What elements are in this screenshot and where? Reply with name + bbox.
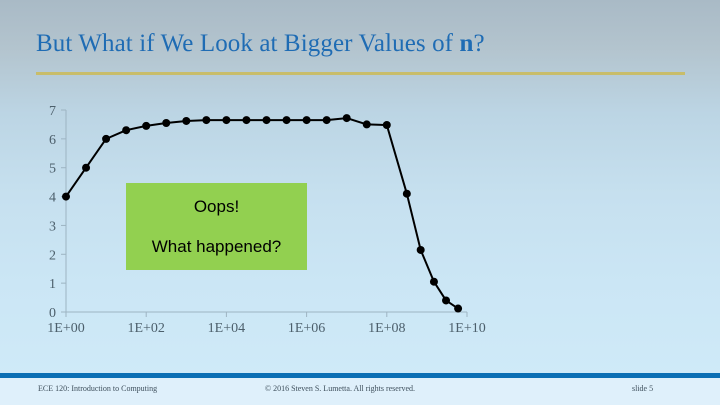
x-axis-tick-label: 1E+02	[127, 321, 164, 336]
data-point	[102, 135, 110, 143]
slide: But What if We Look at Bigger Values of …	[0, 0, 720, 405]
data-point	[182, 117, 190, 125]
y-axis-tick-label: 3	[49, 219, 56, 234]
y-axis-tick-label: 6	[49, 133, 56, 148]
y-axis-tick-label: 1	[49, 277, 56, 292]
data-point	[442, 296, 450, 304]
data-point	[242, 116, 250, 124]
data-point	[142, 122, 150, 130]
footer: ECE 120: Introduction to Computing © 201…	[0, 378, 720, 405]
y-axis-tick-label: 5	[49, 162, 56, 177]
data-point	[323, 116, 331, 124]
x-axis-tick-label: 1E+00	[47, 321, 84, 336]
data-point	[454, 305, 462, 313]
x-axis-tick-label: 1E+08	[368, 321, 405, 336]
line-chart: 01234567 1E+001E+021E+041E+061E+081E+10	[0, 0, 720, 405]
x-axis-tick-label: 1E+06	[288, 321, 325, 336]
callout-line-1: Oops!	[194, 197, 239, 217]
y-axis-tick-label: 2	[49, 248, 56, 263]
data-point	[122, 126, 130, 134]
data-point	[263, 116, 271, 124]
data-point	[162, 119, 170, 127]
data-point	[417, 246, 425, 254]
data-point	[363, 120, 371, 128]
data-point	[82, 164, 90, 172]
y-axis-ticks: 01234567	[49, 104, 66, 321]
data-point	[283, 116, 291, 124]
x-axis-ticks: 1E+001E+021E+041E+061E+081E+10	[47, 312, 485, 336]
data-point	[430, 278, 438, 286]
callout-box: Oops! What happened?	[126, 183, 307, 270]
data-point	[403, 190, 411, 198]
x-axis-tick-label: 1E+04	[208, 321, 245, 336]
callout-line-2: What happened?	[152, 237, 282, 257]
data-point	[383, 121, 391, 129]
y-axis-tick-label: 7	[49, 104, 56, 119]
x-axis-tick-label: 1E+10	[448, 321, 485, 336]
footer-copyright: © 2016 Steven S. Lumetta. All rights res…	[265, 384, 415, 393]
y-axis-tick-label: 4	[49, 191, 56, 206]
data-point	[343, 114, 351, 122]
data-point	[303, 116, 311, 124]
y-axis-tick-label: 0	[49, 306, 56, 321]
data-point	[222, 116, 230, 124]
footer-slide-number: slide 5	[632, 384, 653, 393]
data-point	[202, 116, 210, 124]
data-point	[62, 193, 70, 201]
footer-course: ECE 120: Introduction to Computing	[38, 384, 157, 393]
